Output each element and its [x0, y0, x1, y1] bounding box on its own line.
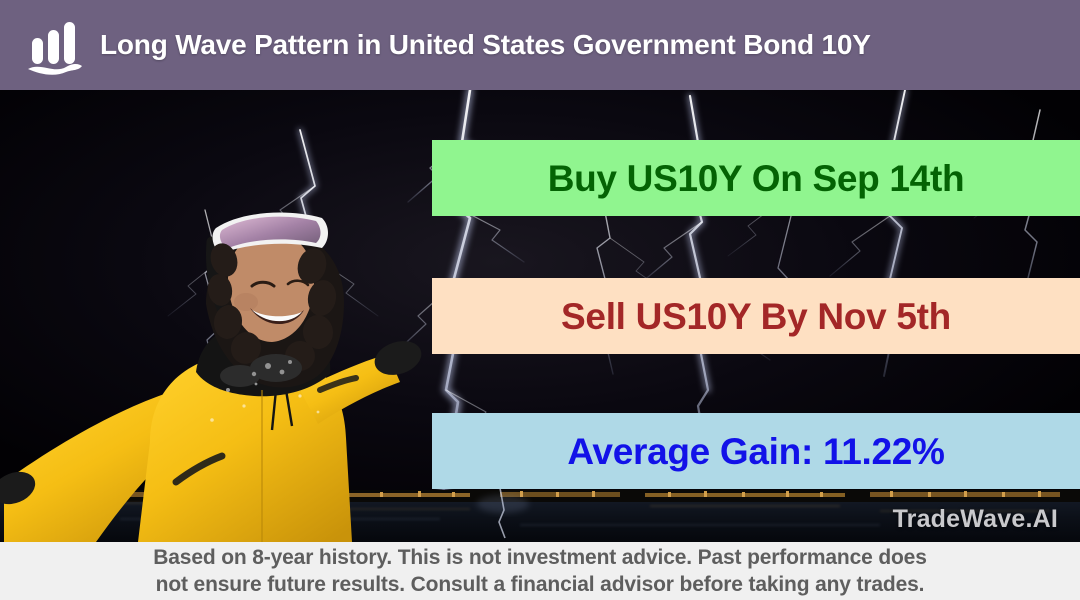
header-bar: Long Wave Pattern in United States Gover… — [0, 0, 1080, 90]
sell-signal-label: Sell US10Y By Nov 5th — [561, 298, 951, 335]
disclaimer-line-1: Based on 8-year history. This is not inv… — [153, 544, 926, 571]
hero-scene: Buy US10Y On Sep 14th Sell US10Y By Nov … — [0, 90, 1080, 542]
buy-signal-label: Buy US10Y On Sep 14th — [548, 160, 965, 197]
disclaimer-line-2: not ensure future results. Consult a fin… — [156, 571, 925, 598]
bar-chart-wave-logo-icon — [24, 14, 86, 76]
page-title: Long Wave Pattern in United States Gover… — [100, 29, 871, 61]
average-gain-label: Average Gain: 11.22% — [567, 433, 944, 470]
brand-watermark: TradeWave.AI — [893, 505, 1058, 534]
promo-card: Long Wave Pattern in United States Gover… — [0, 0, 1080, 600]
buy-signal-callout: Buy US10Y On Sep 14th — [432, 140, 1080, 216]
average-gain-callout: Average Gain: 11.22% — [432, 413, 1080, 489]
disclaimer-footer: Based on 8-year history. This is not inv… — [0, 542, 1080, 600]
sell-signal-callout: Sell US10Y By Nov 5th — [432, 278, 1080, 354]
